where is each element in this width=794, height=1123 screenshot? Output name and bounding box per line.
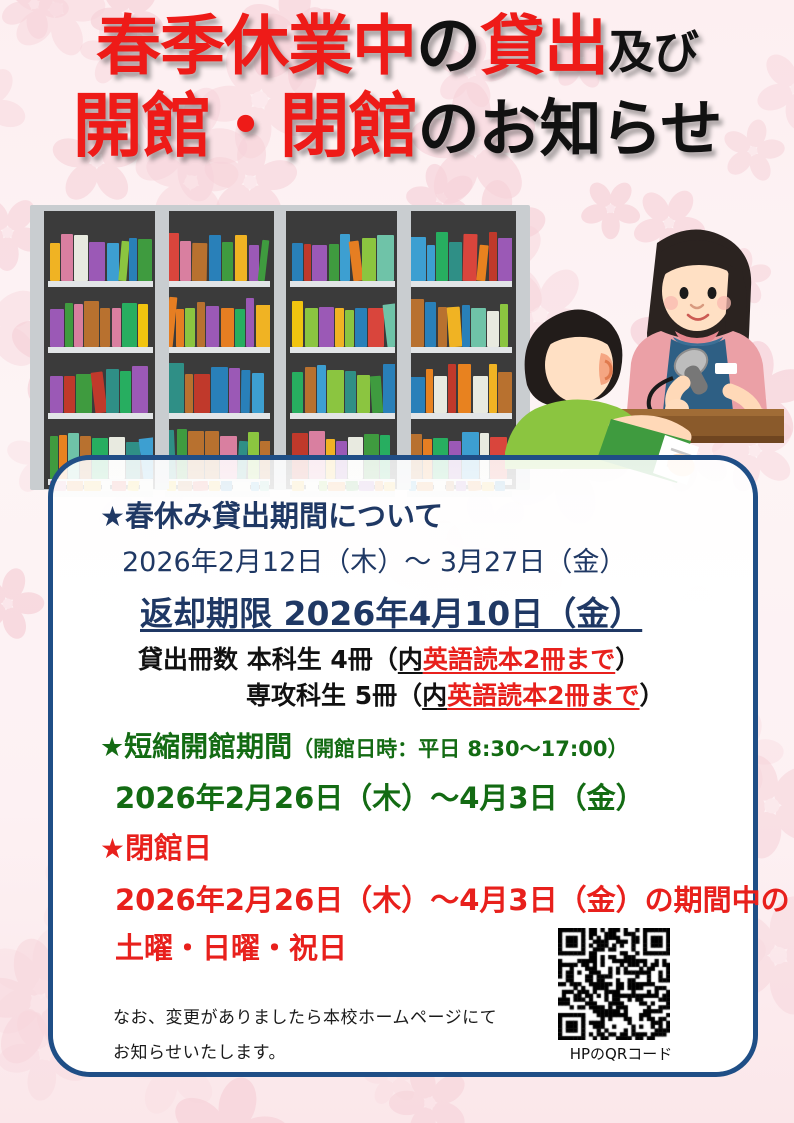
- shortened-range-line: 2026年2月26日（木）～4月3日（金）: [115, 775, 645, 817]
- loan-count-honka-prefix: 貸出冊数 本科生 4冊（: [138, 645, 398, 674]
- loan-count-honka-line: 貸出冊数 本科生 4冊（内英語読本2冊まで）: [138, 640, 640, 676]
- note-line-1: なお、変更がありましたら本校ホームページにて: [113, 1003, 497, 1028]
- note-line-2: お知らせいたします。: [113, 1038, 286, 1063]
- poster-root: 春季休業中の貸出及び 開館・閉館のお知らせ: [0, 0, 794, 1123]
- info-content: ★春休み貸出期間について 2026年2月12日（木）～ 3月27日（金） 返却期…: [0, 0, 794, 1123]
- loan-count-honka-english: 英語読本2冊まで: [423, 645, 615, 674]
- section-heading-shortened-hours-note: （開館日時：平日 8:30～17:00）: [292, 737, 628, 761]
- star-icon-closed-days: ★: [100, 832, 125, 865]
- title-seg-oshirase: のお知らせ: [418, 92, 722, 165]
- section-heading-closed-days: ★閉館日: [100, 825, 212, 867]
- loan-count-honka-suffix: ）: [615, 645, 640, 674]
- title-seg-kaikan-heikan: 開館・閉館: [73, 85, 418, 167]
- closed-days-list-line: 土曜・日曜・祝日: [115, 925, 347, 967]
- section-heading-shortened-hours-text: 短縮開館期間: [124, 730, 292, 763]
- section-heading-shortened-hours: ★短縮開館期間（開館日時：平日 8:30～17:00）: [100, 725, 629, 765]
- title-seg-no: の: [416, 9, 480, 84]
- qr-code[interactable]: [558, 928, 670, 1040]
- title-seg-shunki: 春季休業中: [96, 9, 416, 84]
- closed-range-line: 2026年2月26日（木）～4月3日（金）の期間中の: [115, 877, 790, 919]
- title-line-2: 開館・閉館のお知らせ: [0, 91, 794, 161]
- poster-title: 春季休業中の貸出及び 開館・閉館のお知らせ: [0, 14, 794, 161]
- title-seg-kashidashi: 貸出: [480, 9, 608, 84]
- section-heading-loan-period: ★春休み貸出期間について: [100, 493, 443, 535]
- loan-count-senkouka-english: 英語読本2冊まで: [447, 681, 639, 710]
- star-icon-loan-period: ★: [100, 500, 125, 533]
- return-deadline-line: 返却期限 2026年4月10日（金）: [140, 587, 642, 635]
- loan-range-line: 2026年2月12日（木）～ 3月27日（金）: [122, 540, 626, 579]
- loan-count-senkouka-suffix: ）: [640, 681, 665, 710]
- qr-code-caption: HPのQRコード: [556, 1043, 686, 1064]
- loan-count-senkouka-prefix: 専攻科生 5冊（: [246, 681, 422, 710]
- section-heading-loan-period-text: 春休み貸出期間について: [125, 499, 443, 533]
- qr-code-canvas: [558, 928, 670, 1040]
- title-seg-oyobi: 及び: [608, 25, 698, 79]
- loan-count-senkouka-uchi: 内: [422, 681, 447, 710]
- section-heading-closed-days-text: 閉館日: [125, 831, 212, 865]
- star-icon-shortened-hours: ★: [100, 732, 124, 763]
- loan-count-senkouka-line: 専攻科生 5冊（内英語読本2冊まで）: [246, 676, 665, 712]
- title-line-1: 春季休業中の貸出及び: [0, 14, 794, 79]
- loan-count-honka-uchi: 内: [398, 645, 423, 674]
